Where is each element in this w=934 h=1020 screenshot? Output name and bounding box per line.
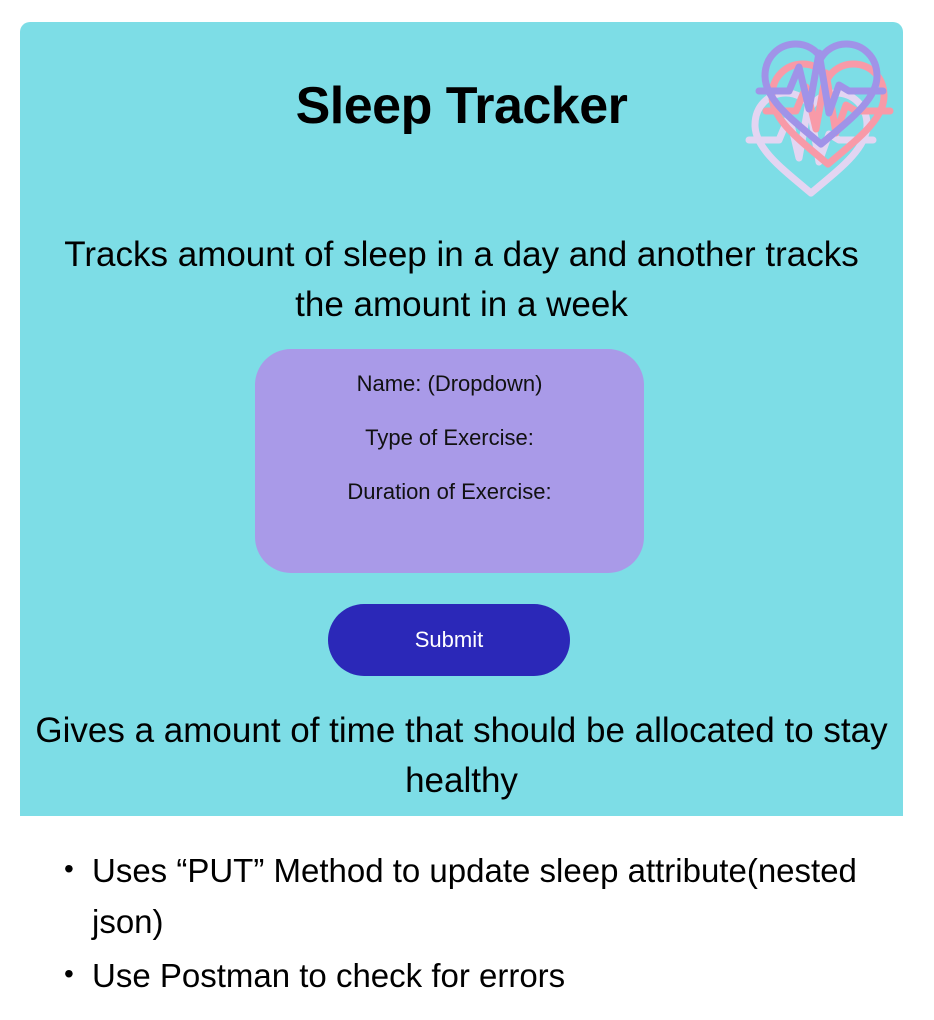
field-label-type-of-exercise[interactable]: Type of Exercise: bbox=[255, 427, 644, 449]
page-title: Sleep Tracker bbox=[20, 80, 903, 132]
implementation-notes-list: Uses “PUT” Method to update sleep attrib… bbox=[56, 845, 892, 1003]
list-item: Use Postman to check for errors bbox=[92, 950, 892, 1001]
exercise-form-panel: Name: (Dropdown) Type of Exercise: Durat… bbox=[255, 349, 644, 573]
sleep-tracker-card: Sleep Tracker Tracks amount of sleep in … bbox=[20, 22, 903, 816]
field-label-name[interactable]: Name: (Dropdown) bbox=[255, 373, 644, 395]
card-subtitle: Tracks amount of sleep in a day and anot… bbox=[55, 230, 868, 329]
list-item: Uses “PUT” Method to update sleep attrib… bbox=[92, 845, 892, 948]
submit-button[interactable]: Submit bbox=[328, 604, 570, 676]
card-footer-note: Gives a amount of time that should be al… bbox=[30, 706, 893, 805]
field-label-duration-of-exercise[interactable]: Duration of Exercise: bbox=[255, 481, 644, 503]
